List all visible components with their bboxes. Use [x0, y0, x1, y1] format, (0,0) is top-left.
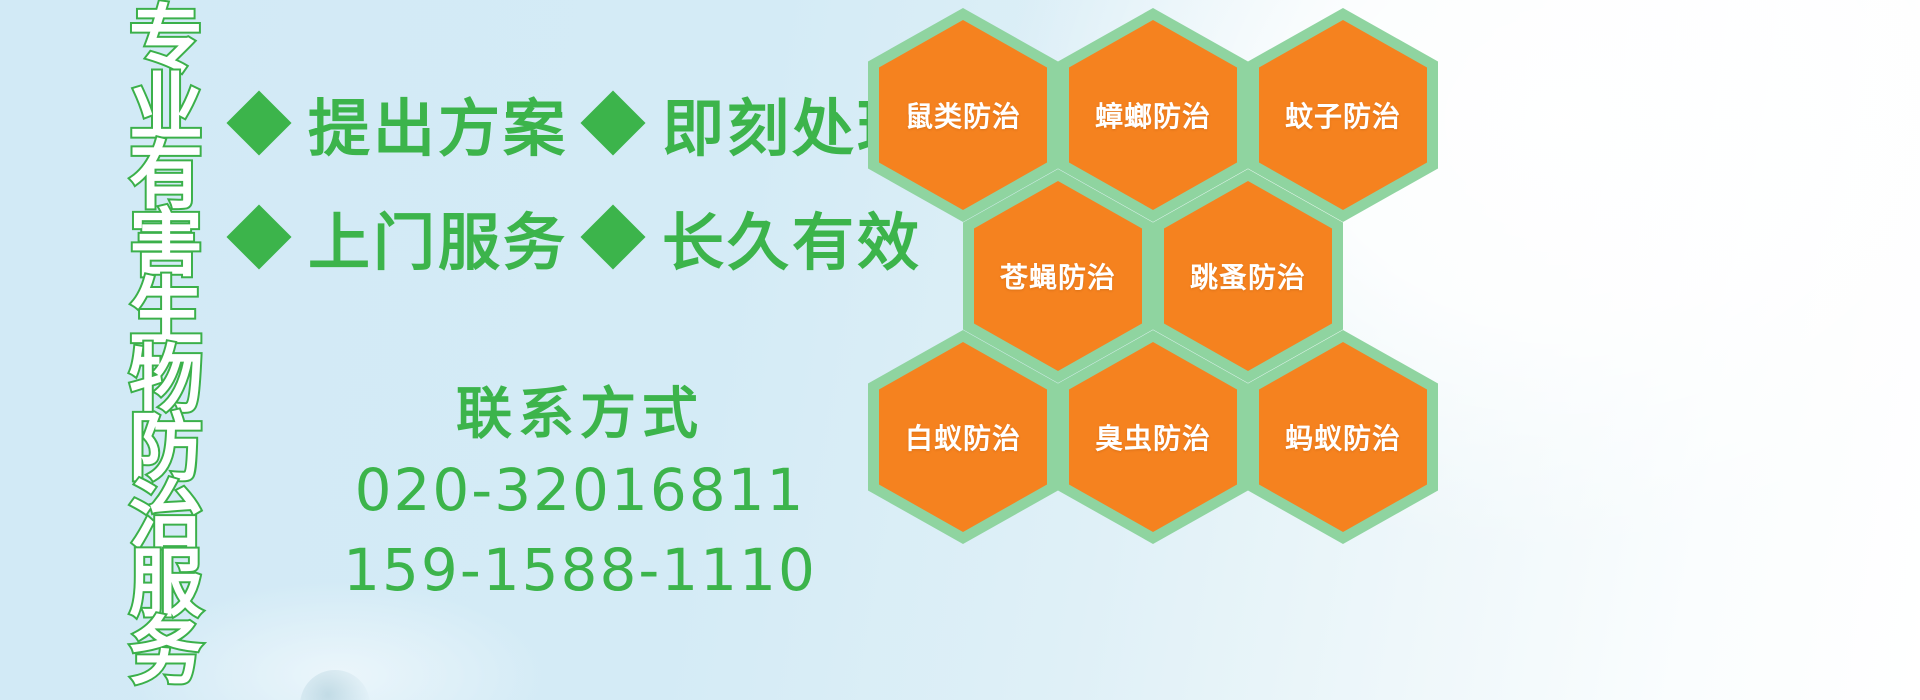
hex-inner-fill: 鼠类防治 — [879, 20, 1047, 210]
contact-title: 联系方式 — [300, 380, 860, 450]
vertical-headline-char: 治 — [129, 482, 203, 550]
vertical-headline-char: 务 — [129, 618, 203, 686]
vertical-headline: 专 业 有 害 生 物 防 治 服 务 — [110, 6, 222, 696]
feature-label: 提出方案 — [308, 78, 568, 168]
vertical-headline-char: 业 — [129, 74, 203, 142]
diamond-icon — [580, 204, 645, 269]
hex-inner-fill: 蚂蚁防治 — [1259, 342, 1427, 532]
vertical-headline-char: 有 — [129, 142, 203, 210]
phone-number-mobile[interactable]: 159-1588-1110 — [300, 530, 860, 610]
vertical-headline-char: 专 — [129, 6, 203, 74]
pest-control-banner: 专 业 有 害 生 物 防 治 服 务 提出方案 即刻处理 上门服务 长久有效 … — [0, 0, 1920, 700]
service-label: 鼠类防治 — [905, 95, 1021, 135]
contact-block: 联系方式 020-32016811 159-1588-1110 — [300, 380, 860, 610]
hex-inner-fill: 苍蝇防治 — [974, 181, 1142, 371]
feature-row-2: 上门服务 长久有效 — [236, 192, 922, 282]
hex-inner-fill: 蚊子防治 — [1259, 20, 1427, 210]
service-label: 苍蝇防治 — [1000, 256, 1116, 296]
vertical-headline-char: 生 — [129, 278, 203, 346]
vertical-headline-char: 害 — [129, 210, 203, 278]
diamond-icon — [226, 90, 291, 155]
vertical-headline-char: 防 — [129, 414, 203, 482]
hex-inner-fill: 蟑螂防治 — [1069, 20, 1237, 210]
feature-label: 上门服务 — [308, 192, 568, 282]
hex-inner-fill: 白蚁防治 — [879, 342, 1047, 532]
service-label: 臭虫防治 — [1095, 417, 1211, 457]
service-label: 白蚁防治 — [905, 417, 1021, 457]
service-label: 跳蚤防治 — [1190, 256, 1306, 296]
service-label: 蚊子防治 — [1285, 95, 1401, 135]
service-label: 蟑螂防治 — [1095, 95, 1211, 135]
feature-row-1: 提出方案 即刻处理 — [236, 78, 922, 168]
service-label: 蚂蚁防治 — [1285, 417, 1401, 457]
hex-inner-fill: 臭虫防治 — [1069, 342, 1237, 532]
vertical-headline-char: 物 — [129, 346, 203, 414]
hex-inner-fill: 跳蚤防治 — [1164, 181, 1332, 371]
diamond-icon — [580, 90, 645, 155]
vertical-headline-char: 服 — [129, 550, 203, 618]
diamond-icon — [226, 204, 291, 269]
phone-number-landline[interactable]: 020-32016811 — [300, 450, 860, 530]
service-honeycomb: 鼠类防治 蟑螂防治 蚊子防治 苍蝇防治 跳蚤防治 白蚁防治 — [860, 0, 1920, 700]
